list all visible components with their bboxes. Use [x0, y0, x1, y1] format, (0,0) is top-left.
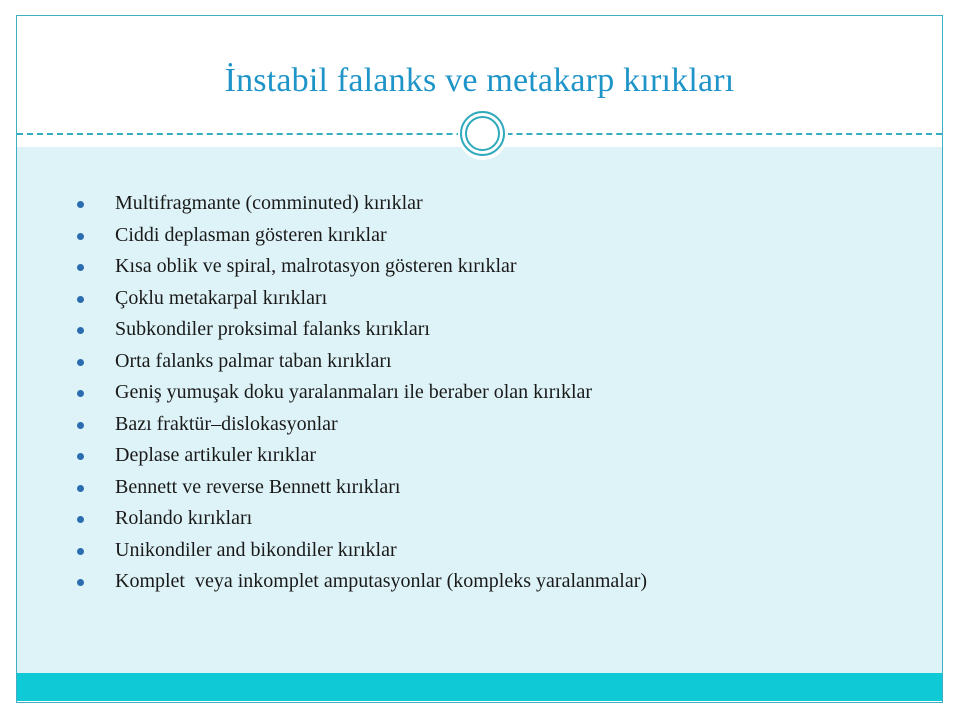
list-item: Orta falanks palmar taban kırıkları — [69, 346, 922, 378]
footer-accent-bar — [17, 673, 942, 701]
bullet-dot-icon — [77, 201, 84, 208]
list-item: Çoklu metakarpal kırıkları — [69, 283, 922, 315]
slide: İnstabil falanks ve metakarp kırıkları M… — [0, 0, 960, 720]
list-item: Multifragmante (comminuted) kırıklar — [69, 188, 922, 220]
list-item: Unikondiler and bikondiler kırıklar — [69, 535, 922, 567]
bullet-dot-icon — [77, 359, 84, 366]
list-item-label: Multifragmante (comminuted) kırıklar — [115, 192, 423, 214]
list-item-label: Bennett ve reverse Bennett kırıkları — [115, 476, 400, 498]
bullet-dot-icon — [77, 233, 84, 240]
list-item-label: Deplase artikuler kırıklar — [115, 444, 316, 466]
page-title: İnstabil falanks ve metakarp kırıkları — [17, 60, 942, 102]
list-item: Ciddi deplasman gösteren kırıklar — [69, 220, 922, 252]
bullet-dot-icon — [77, 390, 84, 397]
list-item: Rolando kırıkları — [69, 503, 922, 535]
bullet-dot-icon — [77, 548, 84, 555]
list-item: Kısa oblik ve spiral, malrotasyon göster… — [69, 251, 922, 283]
bullet-dot-icon — [77, 485, 84, 492]
list-item: Subkondiler proksimal falanks kırıkları — [69, 314, 922, 346]
bullet-list: Multifragmante (comminuted) kırıklarCidd… — [69, 188, 922, 598]
list-item-label: Ciddi deplasman gösteren kırıklar — [115, 224, 387, 246]
list-item: Komplet veya inkomplet amputasyonlar (ko… — [69, 566, 922, 598]
bullet-dot-icon — [77, 327, 84, 334]
bullet-dot-icon — [77, 422, 84, 429]
list-item-label: Geniş yumuşak doku yaralanmaları ile ber… — [115, 381, 592, 403]
list-item: Geniş yumuşak doku yaralanmaları ile ber… — [69, 377, 922, 409]
list-item-label: Komplet veya inkomplet amputasyonlar (ko… — [115, 570, 647, 592]
list-item-label: Bazı fraktür–dislokasyonlar — [115, 413, 338, 435]
bullet-dot-icon — [77, 516, 84, 523]
list-item-label: Kısa oblik ve spiral, malrotasyon göster… — [115, 255, 517, 277]
decorative-circle-inner-ring-icon — [465, 116, 500, 151]
bullet-dot-icon — [77, 264, 84, 271]
list-item-label: Orta falanks palmar taban kırıkları — [115, 350, 392, 372]
bullet-dot-icon — [77, 296, 84, 303]
list-item-label: Unikondiler and bikondiler kırıklar — [115, 539, 397, 561]
list-item: Deplase artikuler kırıklar — [69, 440, 922, 472]
footer-underline — [17, 701, 942, 703]
bullet-dot-icon — [77, 579, 84, 586]
list-item: Bazı fraktür–dislokasyonlar — [69, 409, 922, 441]
list-item: Bennett ve reverse Bennett kırıkları — [69, 472, 922, 504]
list-item-label: Subkondiler proksimal falanks kırıkları — [115, 318, 430, 340]
bullet-dot-icon — [77, 453, 84, 460]
slide-frame: İnstabil falanks ve metakarp kırıkları M… — [16, 15, 943, 703]
list-item-label: Rolando kırıkları — [115, 507, 252, 529]
list-item-label: Çoklu metakarpal kırıkları — [115, 287, 327, 309]
